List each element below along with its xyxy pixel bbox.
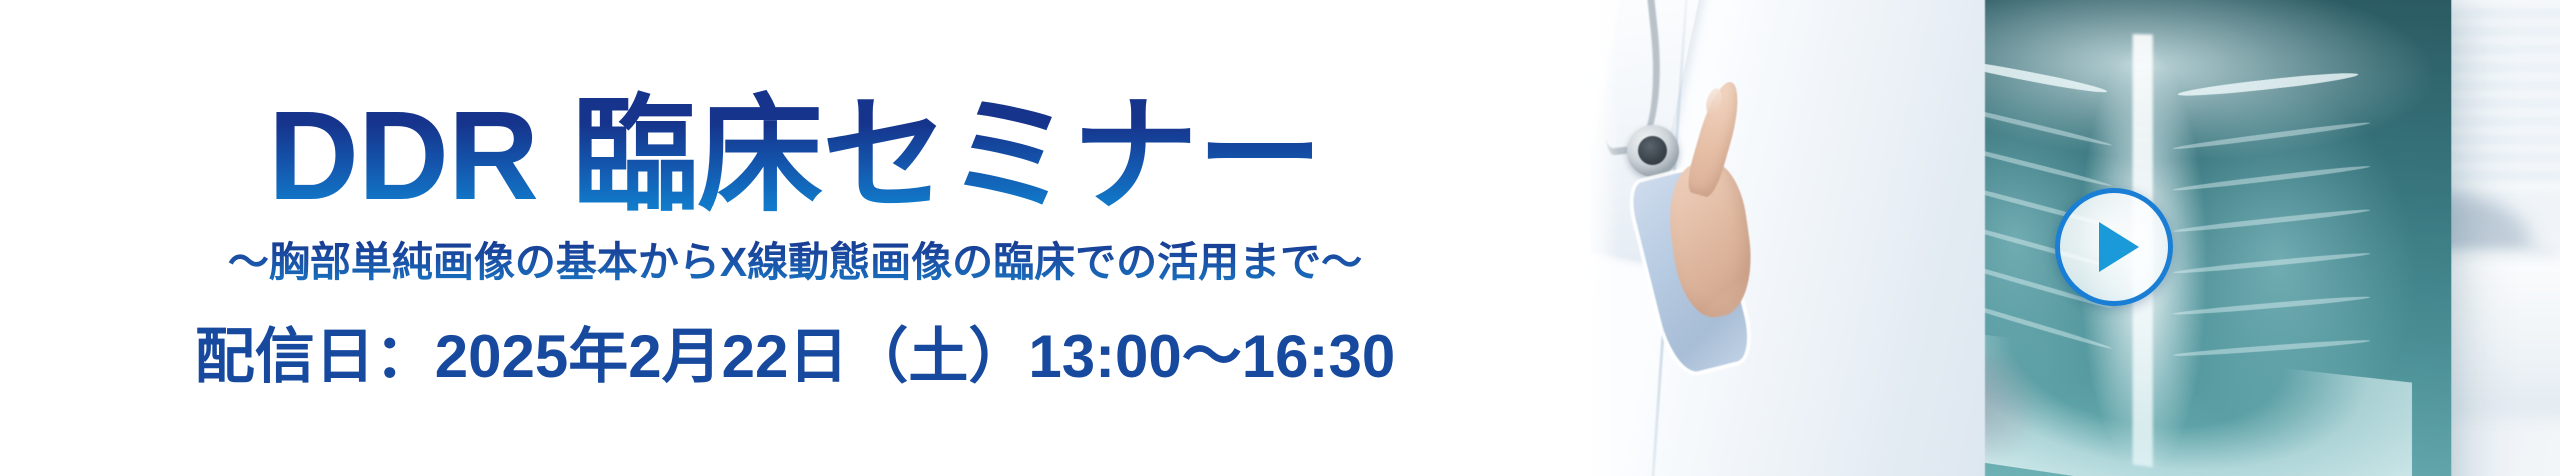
play-triangle (2099, 222, 2139, 272)
banner-subtitle: 〜胸部単純画像の基本からX線動態画像の臨床での活用まで〜 (228, 238, 1362, 287)
banner-date-line: 配信日：2025年2月22日（土）13:00〜16:30 (195, 321, 1396, 393)
stethoscope-chestpiece (1627, 125, 1679, 177)
play-icon[interactable] (2055, 188, 2173, 306)
seminar-banner: DDR 臨床セミナー 〜胸部単純画像の基本からX線動態画像の臨床での活用まで〜 … (0, 0, 2560, 476)
banner-title: DDR 臨床セミナー (268, 89, 1322, 223)
banner-text-panel: DDR 臨床セミナー 〜胸部単純画像の基本からX線動態画像の臨床での活用まで〜 … (0, 0, 1590, 476)
doctor-coat (1585, 0, 1985, 476)
banner-photo (1585, 0, 2560, 476)
